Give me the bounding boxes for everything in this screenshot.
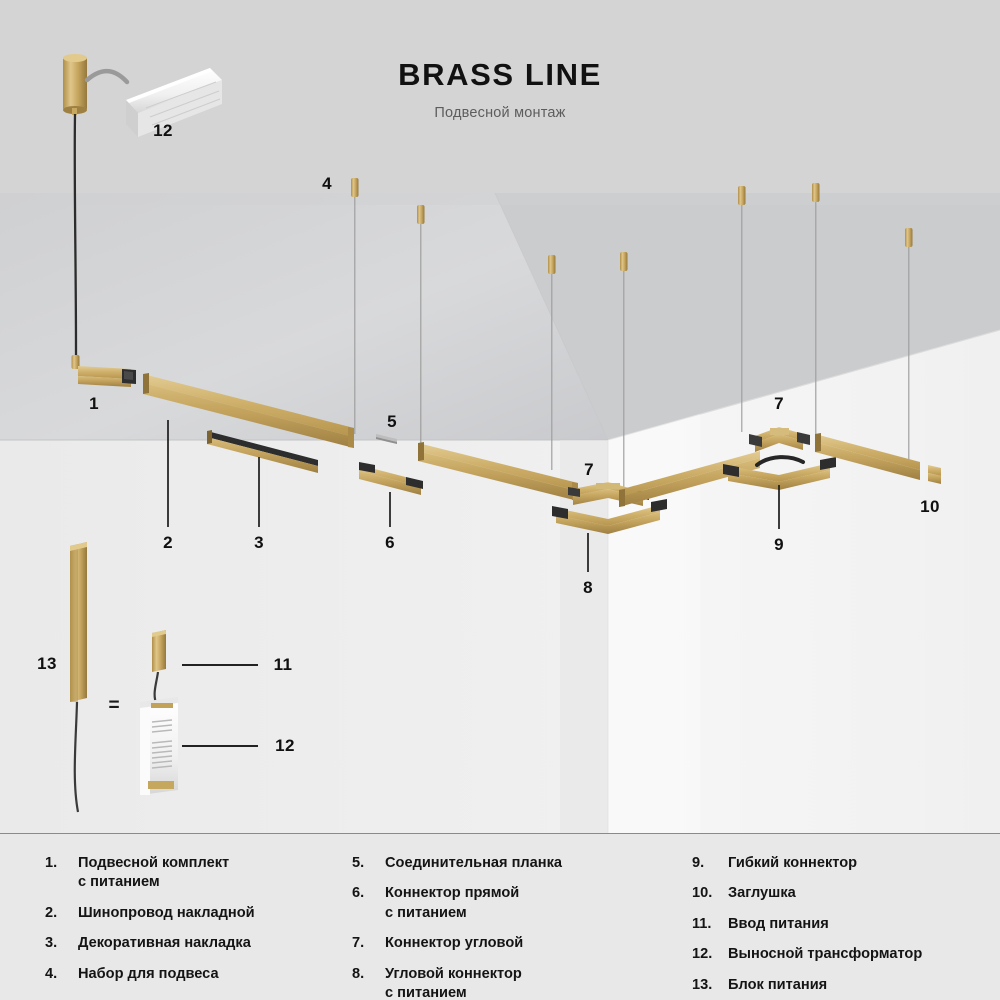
- legend-item-7: 7. Коннектор угловой: [352, 934, 692, 953]
- diagram-scene: 12 4 1 5 7 7 2 3 6 8 9 10 13 11 12 = BRA…: [0, 0, 1000, 833]
- callout-5: 5: [387, 412, 397, 432]
- legend-column-2: 5. Соединительная планка 6. Коннектор пр…: [352, 854, 692, 1000]
- callout-12-bottom: 12: [275, 736, 295, 756]
- equals-sign: =: [108, 695, 119, 717]
- callout-11: 11: [274, 655, 293, 675]
- legend-item-6: 6. Коннектор прямой с питанием: [352, 884, 692, 923]
- callout-7-left: 7: [584, 460, 594, 480]
- legend-item-9-label: Гибкий коннектор: [728, 854, 857, 873]
- callout-13: 13: [37, 654, 57, 674]
- legend-item-7-number: 7.: [352, 934, 385, 953]
- callout-2: 2: [163, 533, 173, 553]
- legend-item-6-label: Коннектор прямой с питанием: [385, 884, 519, 923]
- callout-3: 3: [254, 533, 264, 553]
- callout-9: 9: [774, 535, 784, 555]
- page-title: BRASS LINE: [0, 58, 1000, 92]
- legend-item-10-number: 10.: [692, 884, 728, 903]
- legend-item-7-label: Коннектор угловой: [385, 934, 523, 953]
- legend-item-10: 10. Заглушка: [692, 884, 1000, 903]
- legend-item-13-number: 13.: [692, 976, 728, 995]
- legend-item-2-number: 2.: [45, 904, 78, 923]
- legend-item-5-number: 5.: [352, 854, 385, 873]
- legend-item-9-number: 9.: [692, 854, 728, 873]
- legend-item-4-label: Набор для подвеса: [78, 965, 219, 984]
- callout-8: 8: [583, 578, 593, 598]
- legend-item-12: 12. Выносной трансформатор: [692, 945, 1000, 964]
- page-subtitle: Подвесной монтаж: [0, 105, 1000, 121]
- legend-item-1: 1. Подвесной комплект с питанием: [45, 854, 352, 893]
- left-wall: [0, 440, 608, 833]
- legend-item-1-label: Подвесной комплект с питанием: [78, 854, 229, 893]
- legend-item-12-label: Выносной трансформатор: [728, 945, 922, 964]
- legend-item-3: 3. Декоративная накладка: [45, 934, 352, 953]
- legend-item-5: 5. Соединительная планка: [352, 854, 692, 873]
- callout-12-top: 12: [153, 121, 173, 141]
- legend-item-10-label: Заглушка: [728, 884, 796, 903]
- legend-item-2: 2. Шинопровод накладной: [45, 904, 352, 923]
- page-root: 12 4 1 5 7 7 2 3 6 8 9 10 13 11 12 = BRA…: [0, 0, 1000, 1000]
- legend-item-11-number: 11.: [692, 915, 728, 934]
- legend-item-13: 13. Блок питания: [692, 976, 1000, 995]
- header: BRASS LINE Подвесной монтаж: [0, 58, 1000, 121]
- part-end-cap: [928, 465, 941, 484]
- legend-item-5-label: Соединительная планка: [385, 854, 562, 873]
- legend-column-1: 1. Подвесной комплект с питанием 2. Шино…: [0, 854, 352, 1000]
- callout-4: 4: [322, 174, 332, 194]
- legend-item-3-number: 3.: [45, 934, 78, 953]
- legend-item-2-label: Шинопровод накладной: [78, 904, 255, 923]
- legend-item-8-number: 8.: [352, 965, 385, 984]
- legend-item-4: 4. Набор для подвеса: [45, 965, 352, 984]
- legend-item-8: 8. Угловой коннектор с питанием: [352, 965, 692, 1000]
- callout-7-right: 7: [774, 394, 784, 414]
- legend-item-1-number: 1.: [45, 854, 78, 873]
- legend-item-8-label: Угловой коннектор с питанием: [385, 965, 522, 1000]
- legend-item-3-label: Декоративная накладка: [78, 934, 251, 953]
- callout-6: 6: [385, 533, 395, 553]
- legend-item-11-label: Ввод питания: [728, 915, 829, 934]
- legend-item-6-number: 6.: [352, 884, 385, 903]
- legend-item-13-label: Блок питания: [728, 976, 827, 995]
- legend-panel: 1. Подвесной комплект с питанием 2. Шино…: [0, 833, 1000, 1000]
- legend-item-4-number: 4.: [45, 965, 78, 984]
- scene-illustration: [0, 0, 1000, 833]
- callout-1: 1: [89, 394, 99, 414]
- legend-column-3: 9. Гибкий коннектор 10. Заглушка 11. Вво…: [692, 854, 1000, 1000]
- legend-item-11: 11. Ввод питания: [692, 915, 1000, 934]
- callout-10: 10: [920, 497, 940, 517]
- legend-item-12-number: 12.: [692, 945, 728, 964]
- legend-item-9: 9. Гибкий коннектор: [692, 854, 1000, 873]
